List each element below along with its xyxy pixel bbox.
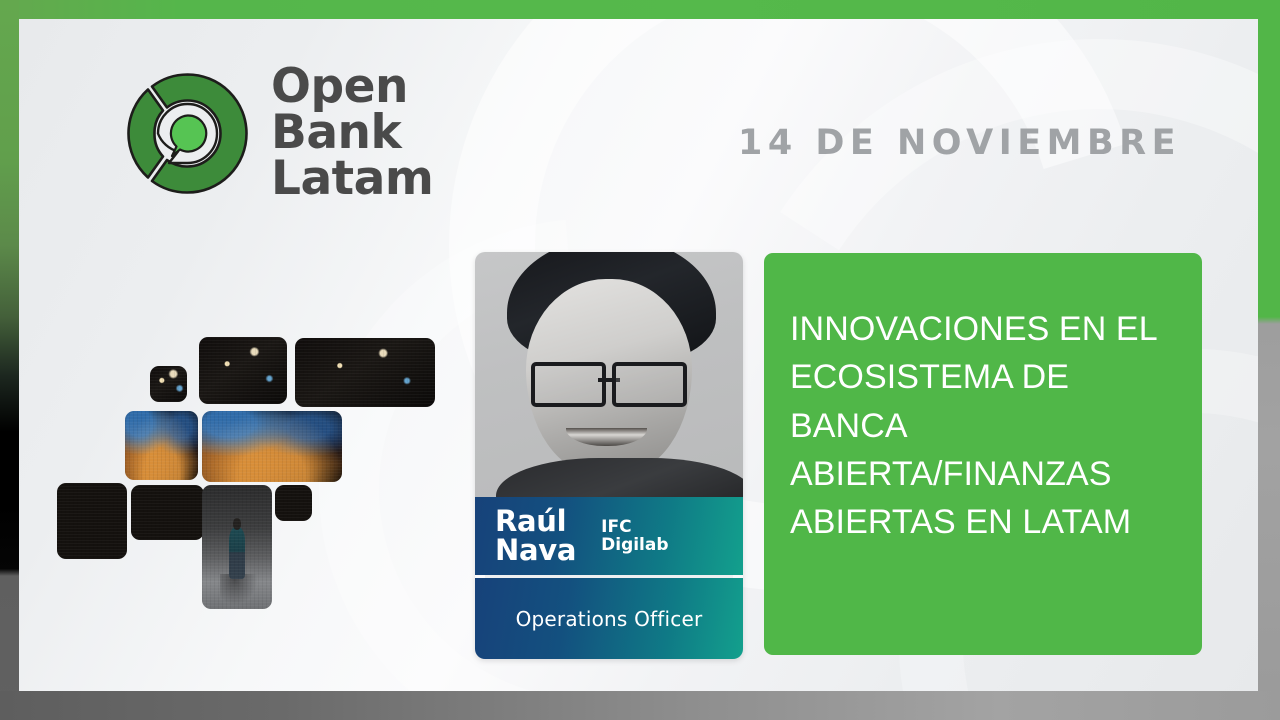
speaker-role: Operations Officer [516, 607, 703, 631]
frame-border-right [1258, 0, 1280, 720]
collage-tile-stage-lights-wide [199, 337, 287, 404]
open-bank-latam-logo-icon [122, 68, 253, 199]
session-title: INNOVACIONES EN EL ECOSISTEMA DE BANCA A… [790, 305, 1178, 546]
collage-tile-stage-lights-small [150, 366, 187, 402]
speaker-name: Raúl Nava [495, 507, 576, 565]
speaker-portrait-photo [475, 252, 743, 497]
slide-canvas: Open Bank Latam 14 DE NOVIEMBRE [19, 19, 1258, 691]
brand-wordmark-line-3: Latam [271, 156, 433, 202]
collage-tile-venue-screen-wide [295, 338, 435, 407]
frame-border-top [0, 0, 1280, 19]
collage-tile-auditorium-main [202, 411, 342, 482]
collage-tile-crowd-warm-small [275, 485, 312, 521]
frame-border-left [0, 0, 19, 720]
glasses-icon [531, 362, 686, 399]
speaker-name-band: Raúl Nava IFC Digilab [475, 497, 743, 575]
speaker-organization: IFC Digilab [601, 518, 668, 555]
collage-tile-audience-blue-left [125, 411, 198, 480]
event-photo-collage [46, 319, 466, 639]
brand-wordmark: Open Bank Latam [271, 64, 433, 202]
speaker-role-band: Operations Officer [475, 578, 743, 659]
speaker-card: Raúl Nava IFC Digilab Operations Officer [475, 252, 743, 659]
brand-wordmark-line-1: Open [271, 64, 433, 110]
brand-wordmark-line-2: Bank [271, 110, 433, 156]
collage-tile-crowd-warm-left [57, 483, 127, 559]
presentation-slide: Open Bank Latam 14 DE NOVIEMBRE [0, 0, 1280, 720]
session-title-panel: INNOVACIONES EN EL ECOSISTEMA DE BANCA A… [764, 253, 1202, 655]
collage-tile-crowd-warm-mid [131, 485, 204, 540]
brand-logo: Open Bank Latam [122, 64, 433, 202]
collage-tile-speaker-on-stage [202, 485, 272, 609]
frame-border-bottom [0, 691, 1280, 720]
event-date: 14 DE NOVIEMBRE [738, 123, 1181, 163]
